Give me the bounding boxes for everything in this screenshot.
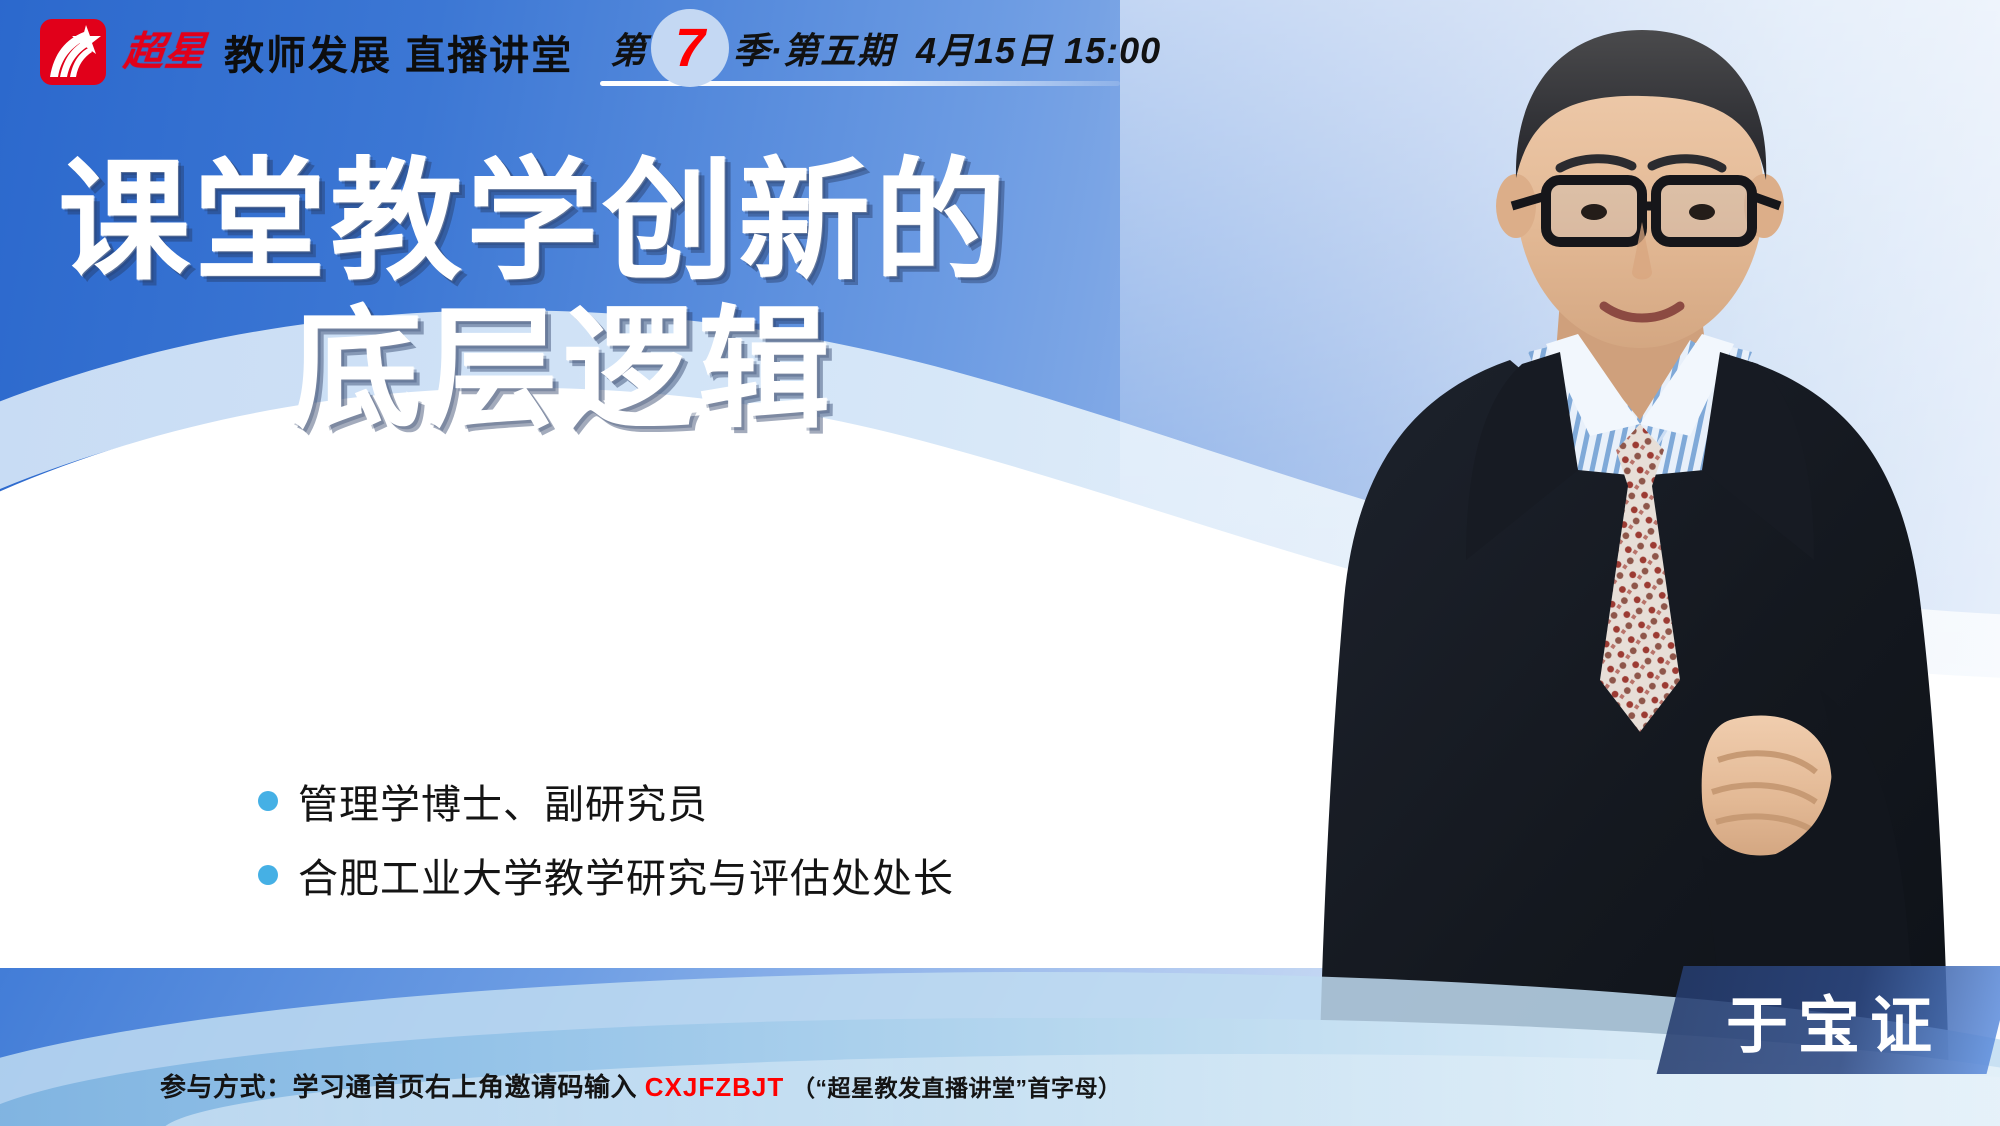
- season-info: 第 7 季·第五期 4月15日 15:00: [610, 18, 1161, 78]
- title-line-2: 底层逻辑: [52, 296, 1072, 444]
- participation-instruction: 学习通首页右上角邀请码输入: [293, 1072, 638, 1102]
- season-suffix: 季·第五期: [733, 22, 894, 74]
- bullet-dot-icon: [258, 865, 278, 885]
- season-datetime: 4月15日 15:00: [916, 22, 1161, 74]
- participation-note: 参与方式：学习通首页右上角邀请码输入 CXJFZBJT （“超星教发直播讲堂”首…: [160, 1067, 1121, 1104]
- speaker-portrait: [1300, 0, 2000, 1126]
- chaoxing-logo-icon: [40, 19, 106, 85]
- bullet-dot-icon: [258, 791, 278, 811]
- poster-header: 超星 教师发展 直播讲堂: [40, 16, 573, 88]
- main-title: 课堂教学创新的 底层逻辑: [52, 148, 1072, 444]
- credential-text: 管理学博士、副研究员: [298, 772, 708, 830]
- header-title: 教师发展 直播讲堂: [224, 23, 573, 81]
- chaoxing-logo-wordmark: 超星: [122, 32, 208, 72]
- speaker-name-badge: 于宝证: [1657, 966, 2000, 1074]
- credential-text: 合肥工业大学教学研究与评估处处长: [298, 846, 954, 904]
- invitation-code: CXJFZBJT: [645, 1072, 784, 1102]
- participation-label: 参与方式：: [160, 1072, 293, 1102]
- season-number-badge: 7: [651, 9, 729, 87]
- participation-note-paren: （“超星教发直播讲堂”首字母）: [792, 1075, 1122, 1101]
- list-item: 合肥工业大学教学研究与评估处处长: [258, 846, 954, 904]
- title-line-1: 课堂教学创新的: [52, 148, 1072, 296]
- season-prefix: 第: [610, 22, 647, 74]
- season-number: 7: [675, 21, 705, 75]
- live-lecture-poster: 超星 教师发展 直播讲堂 第 7 季·第五期 4月15日 15:00 课堂教学创…: [0, 0, 2000, 1126]
- list-item: 管理学博士、副研究员: [258, 772, 954, 830]
- speaker-credentials: 管理学博士、副研究员 合肥工业大学教学研究与评估处处长: [258, 772, 954, 920]
- speaker-name: 于宝证: [1726, 975, 1942, 1065]
